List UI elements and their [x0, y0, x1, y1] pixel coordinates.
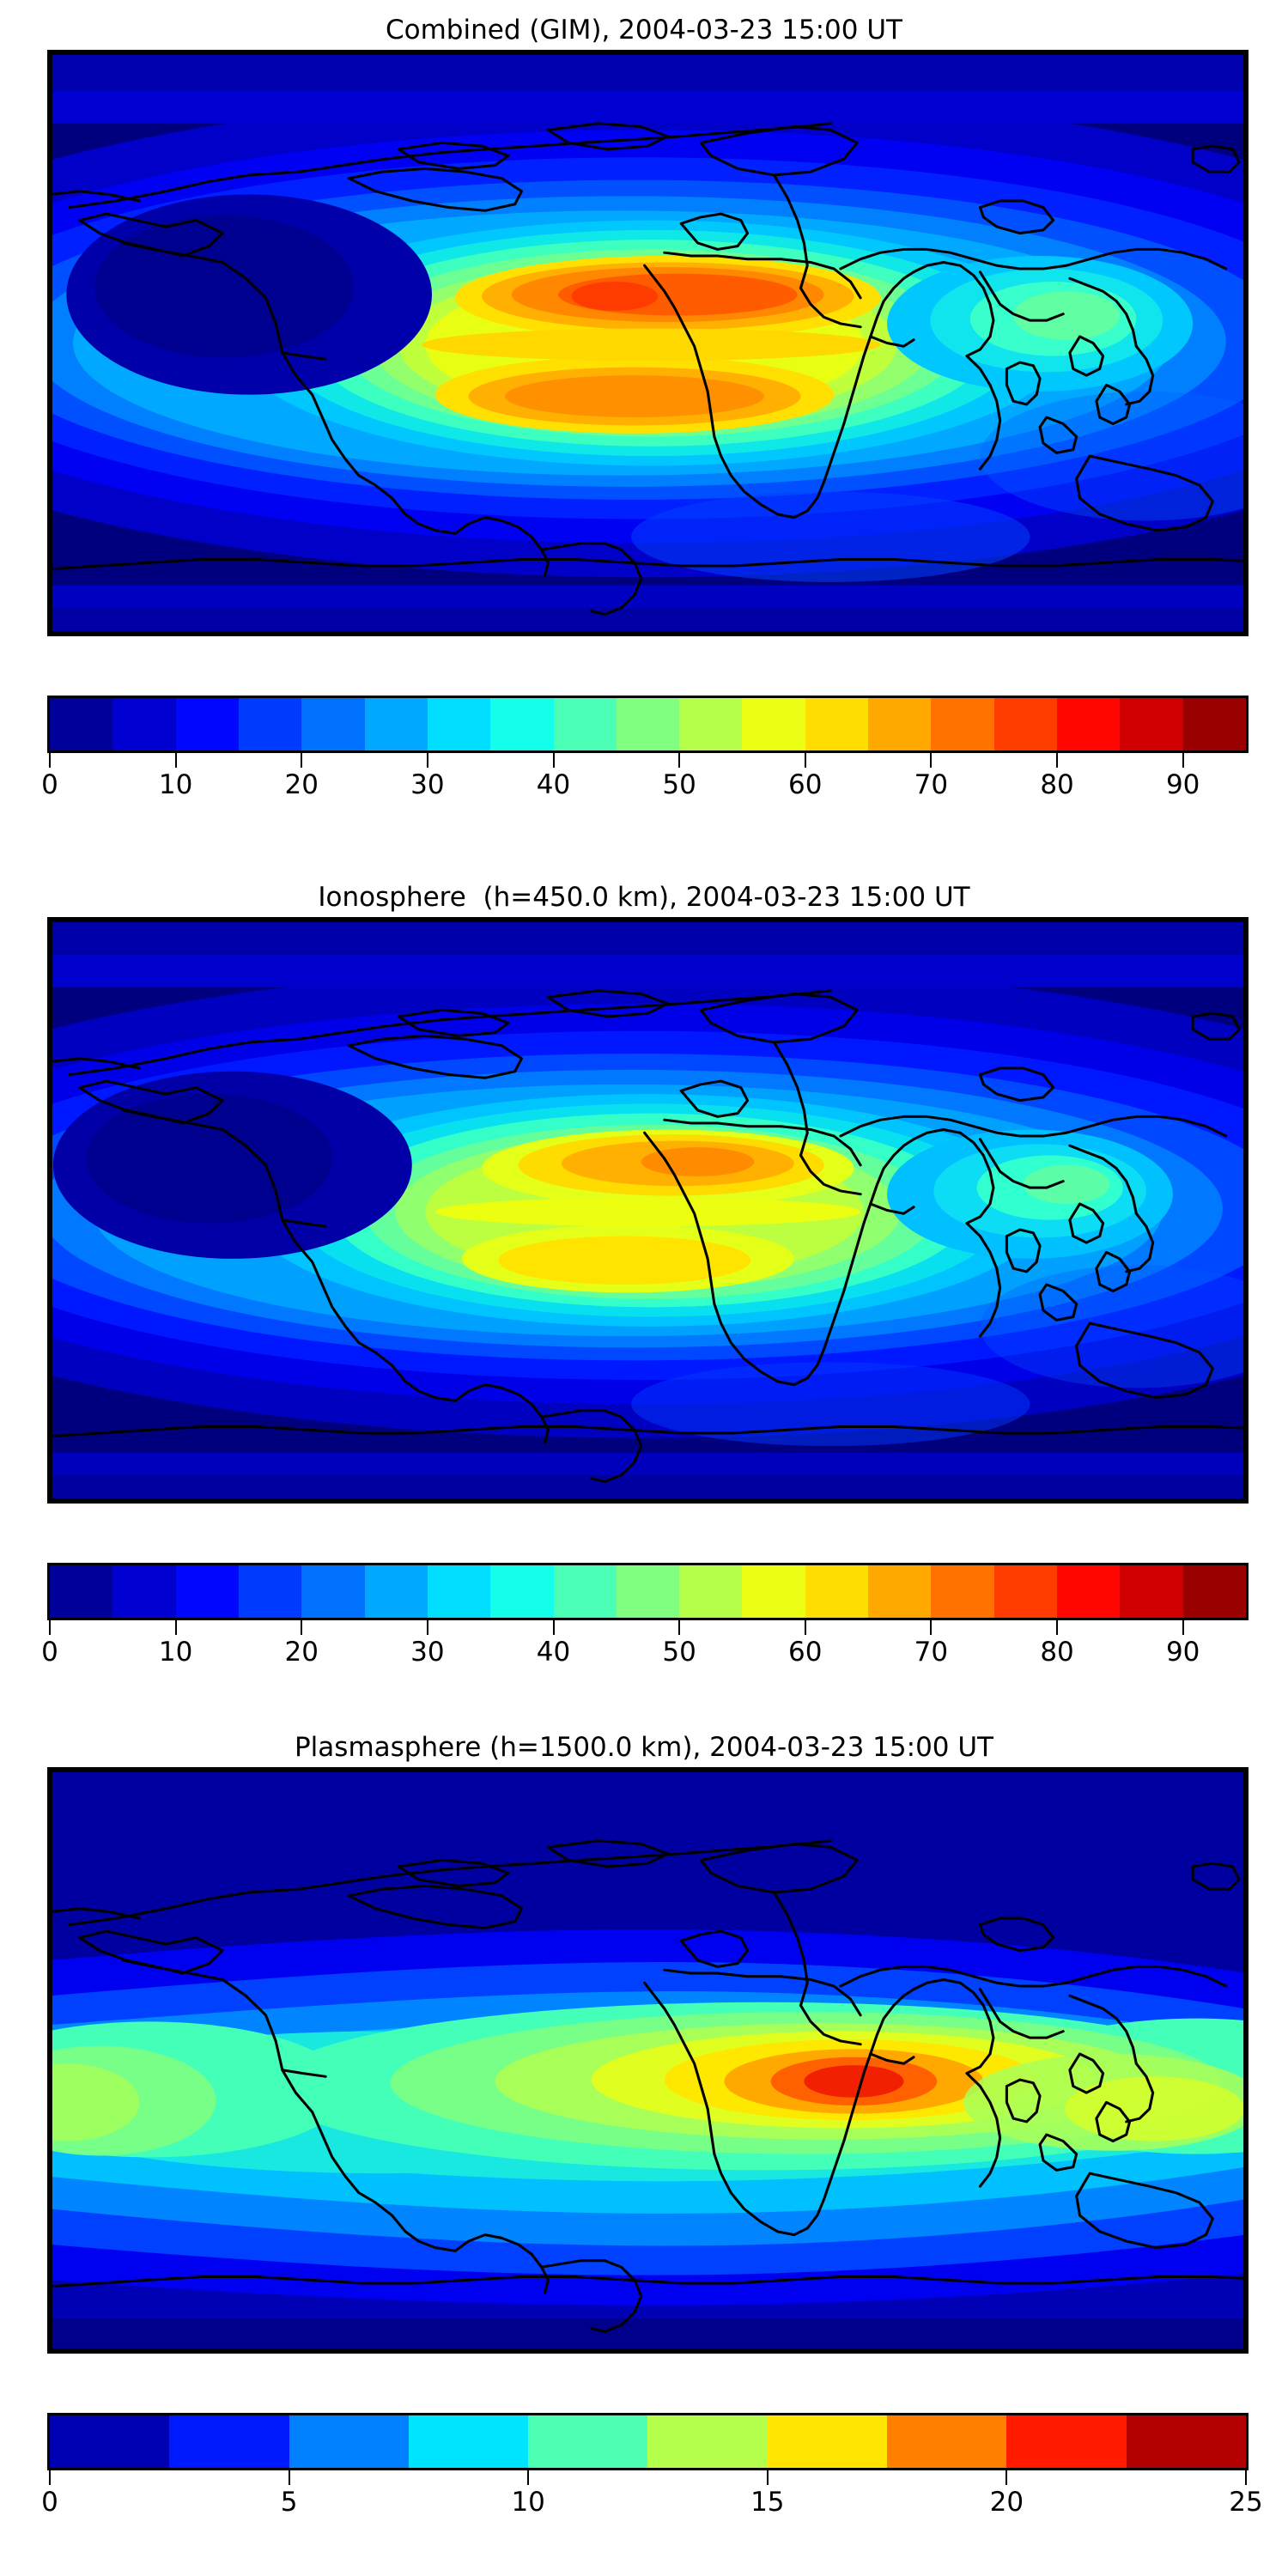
colorbar-band — [176, 698, 239, 750]
colorbar-tick-label: 0 — [41, 2487, 58, 2518]
colorbar-tick-label: 70 — [914, 769, 948, 800]
colorbar-tick — [805, 753, 806, 768]
colorbar-band — [1057, 698, 1120, 750]
colorbar-combined: 0102030405060708090 — [47, 696, 1249, 801]
colorbar-tick — [175, 753, 177, 768]
colorbar-tick-label: 25 — [1229, 2487, 1262, 2518]
contour-field-ionosphere — [50, 920, 1246, 1501]
contour-field-combined — [50, 52, 1246, 634]
colorbar-tick — [49, 2470, 51, 2485]
colorbar-band — [490, 698, 553, 750]
colorbar-band — [1183, 1565, 1246, 1618]
colorbar-tick-label: 30 — [410, 769, 444, 800]
colorbar-tick-label: 0 — [41, 1637, 58, 1668]
colorbar-band — [931, 1565, 993, 1618]
colorbar-tick — [49, 1620, 51, 1635]
colorbar-axis-plasmasphere: 0510152025 — [47, 2470, 1249, 2518]
colorbar-band — [301, 698, 364, 750]
colorbar-band — [112, 698, 175, 750]
colorbar-tick-label: 50 — [662, 769, 696, 800]
colorbar-band — [554, 698, 617, 750]
colorbar-band — [805, 698, 868, 750]
colorbar-tick — [553, 753, 555, 768]
colorbar-tick-label: 50 — [662, 1637, 696, 1668]
colorbar-plasmasphere: 0510152025 — [47, 2413, 1249, 2518]
colorbar-band — [528, 2415, 647, 2468]
colorbar-tick-label: 0 — [41, 769, 58, 800]
colorbar-band — [887, 2415, 1006, 2468]
colorbar-tick — [553, 1620, 555, 1635]
colorbar-band — [647, 2415, 767, 2468]
map-canvas-combined — [50, 52, 1246, 634]
colorbar-tick — [1245, 2470, 1247, 2485]
colorbar-band — [50, 698, 112, 750]
colorbar-band — [490, 1565, 553, 1618]
map-combined-gim — [47, 50, 1249, 636]
colorbar-band — [679, 1565, 742, 1618]
colorbar-tick-label: 60 — [788, 1637, 822, 1668]
colorbar-band — [994, 698, 1057, 750]
colorbar-band — [1057, 1565, 1120, 1618]
colorbar-tick — [301, 1620, 302, 1635]
colorbar-band — [679, 698, 742, 750]
colorbar-band — [428, 1565, 490, 1618]
colorbar-tick-label: 80 — [1040, 769, 1073, 800]
colorbar-band — [50, 1565, 112, 1618]
colorbar-tick — [1056, 753, 1058, 768]
colorbar-band — [289, 2415, 409, 2468]
panel-ionosphere: Ionosphere (h=450.0 km), 2004-03-23 15:0… — [0, 884, 1288, 911]
colorbar-tick — [930, 753, 932, 768]
colorbar-tick-label: 10 — [511, 2487, 544, 2518]
colorbar-band — [176, 1565, 239, 1618]
colorbar-tick-label: 20 — [285, 1637, 319, 1668]
colorbar-tick — [767, 2470, 769, 2485]
colorbar-tick — [678, 753, 680, 768]
panel-title-combined: Combined (GIM), 2004-03-23 15:00 UT — [0, 17, 1288, 44]
colorbar-band — [1120, 698, 1182, 750]
colorbar-gradient-ionosphere[interactable] — [47, 1563, 1249, 1620]
colorbar-band — [768, 2415, 887, 2468]
colorbar-tick-label: 5 — [281, 2487, 298, 2518]
colorbar-band — [617, 698, 679, 750]
colorbar-band — [428, 698, 490, 750]
panel-title-plasmasphere: Plasmasphere (h=1500.0 km), 2004-03-23 1… — [0, 1735, 1288, 1761]
colorbar-tick — [1182, 1620, 1184, 1635]
figure-canvas: Combined (GIM), 2004-03-23 15:00 UT — [0, 0, 1288, 2576]
colorbar-tick-label: 10 — [159, 1637, 192, 1668]
colorbar-gradient-combined[interactable] — [47, 696, 1249, 753]
colorbar-tick — [1056, 1620, 1058, 1635]
colorbar-band — [994, 1565, 1057, 1618]
colorbar-band — [1127, 2415, 1246, 2468]
colorbar-axis-combined: 0102030405060708090 — [47, 753, 1249, 801]
colorbar-tick-label: 30 — [410, 1637, 444, 1668]
colorbar-band — [301, 1565, 364, 1618]
colorbar-tick — [49, 753, 51, 768]
colorbar-band — [112, 1565, 175, 1618]
colorbar-tick — [301, 753, 302, 768]
map-canvas-plasmasphere — [50, 1770, 1246, 2351]
colorbar-axis-ionosphere: 0102030405060708090 — [47, 1620, 1249, 1668]
colorbar-tick-label: 70 — [914, 1637, 948, 1668]
colorbar-band — [931, 698, 993, 750]
colorbar-band — [1006, 2415, 1126, 2468]
colorbar-band — [239, 698, 301, 750]
colorbar-tick-label: 80 — [1040, 1637, 1073, 1668]
colorbar-band — [805, 1565, 868, 1618]
colorbar-band — [554, 1565, 617, 1618]
colorbar-band — [1120, 1565, 1182, 1618]
colorbar-tick — [678, 1620, 680, 1635]
panel-title-ionosphere: Ionosphere (h=450.0 km), 2004-03-23 15:0… — [0, 884, 1288, 911]
colorbar-band — [365, 1565, 428, 1618]
colorbar-tick-label: 10 — [159, 769, 192, 800]
panel-combined-gim: Combined (GIM), 2004-03-23 15:00 UT — [0, 17, 1288, 44]
colorbar-tick — [1182, 753, 1184, 768]
colorbar-tick — [805, 1620, 806, 1635]
colorbar-tick — [289, 2470, 290, 2485]
colorbar-band — [1183, 698, 1246, 750]
colorbar-tick — [527, 2470, 529, 2485]
colorbar-tick-label: 15 — [750, 2487, 784, 2518]
colorbar-gradient-plasmasphere[interactable] — [47, 2413, 1249, 2470]
map-plasmasphere — [47, 1767, 1249, 2354]
colorbar-tick — [930, 1620, 932, 1635]
colorbar-band — [409, 2415, 528, 2468]
colorbar-ionosphere: 0102030405060708090 — [47, 1563, 1249, 1668]
colorbar-tick-label: 40 — [537, 769, 570, 800]
colorbar-band — [365, 698, 428, 750]
colorbar-band — [742, 1565, 805, 1618]
colorbar-band — [742, 698, 805, 750]
colorbar-band — [50, 2415, 169, 2468]
colorbar-tick-label: 20 — [990, 2487, 1024, 2518]
contour-field-plasmasphere — [50, 1770, 1246, 2351]
colorbar-band — [868, 1565, 931, 1618]
colorbar-tick — [427, 1620, 428, 1635]
colorbar-tick-label: 20 — [285, 769, 319, 800]
colorbar-tick — [175, 1620, 177, 1635]
colorbar-tick — [1005, 2470, 1007, 2485]
colorbar-band — [169, 2415, 289, 2468]
colorbar-tick-label: 60 — [788, 769, 822, 800]
colorbar-tick-label: 40 — [537, 1637, 570, 1668]
colorbar-band — [617, 1565, 679, 1618]
colorbar-tick-label: 90 — [1166, 1637, 1200, 1668]
colorbar-band — [868, 698, 931, 750]
map-canvas-ionosphere — [50, 920, 1246, 1501]
map-ionosphere — [47, 917, 1249, 1504]
colorbar-tick — [427, 753, 428, 768]
panel-plasmasphere: Plasmasphere (h=1500.0 km), 2004-03-23 1… — [0, 1735, 1288, 1761]
colorbar-tick-label: 90 — [1166, 769, 1200, 800]
colorbar-band — [239, 1565, 301, 1618]
